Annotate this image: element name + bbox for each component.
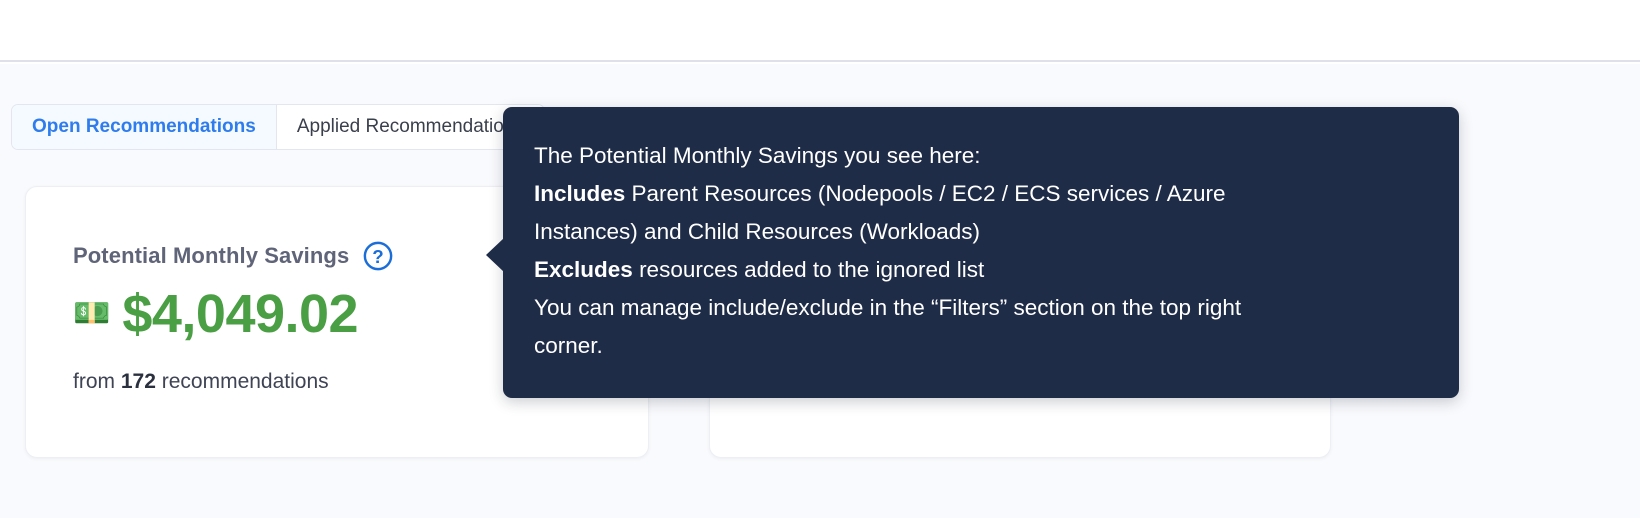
tooltip-line-4: Excludes resources added to the ignored … — [534, 251, 1425, 289]
svg-text:?: ? — [373, 246, 384, 267]
tooltip-line-6: corner. — [534, 327, 1425, 365]
savings-info-tooltip: The Potential Monthly Savings you see he… — [503, 107, 1459, 398]
tooltip-includes-text: Parent Resources (Nodepools / EC2 / ECS … — [625, 181, 1225, 206]
tab-open-recommendations[interactable]: Open Recommendations — [12, 105, 276, 149]
recommendations-tab-bar: Open Recommendations Applied Recommendat… — [11, 104, 545, 150]
tooltip-excludes-text: resources added to the ignored list — [633, 257, 984, 282]
tooltip-excludes-label: Excludes — [534, 257, 633, 282]
count-prefix: from — [73, 370, 121, 393]
count-value: 172 — [121, 370, 156, 393]
tooltip-line-1: The Potential Monthly Savings you see he… — [534, 137, 1425, 175]
tooltip-arrow — [486, 238, 504, 272]
top-header-band — [0, 0, 1640, 62]
question-mark-circle-icon[interactable]: ? — [363, 241, 393, 271]
tooltip-includes-label: Includes — [534, 181, 625, 206]
tooltip-line-3: Instances) and Child Resources (Workload… — [534, 213, 1425, 251]
card-title-row: Potential Monthly Savings ? — [73, 241, 393, 271]
tooltip-line-5: You can manage include/exclude in the “F… — [534, 289, 1425, 327]
savings-amount-value: $4,049.02 — [122, 287, 358, 341]
count-suffix: recommendations — [156, 370, 329, 393]
card-title: Potential Monthly Savings — [73, 243, 349, 269]
savings-amount-row: 💵 $4,049.02 — [73, 287, 358, 341]
money-banknotes-emoji: 💵 — [73, 299, 110, 329]
tooltip-line-2: Includes Parent Resources (Nodepools / E… — [534, 175, 1425, 213]
recommendations-count-line: from 172 recommendations — [73, 370, 329, 394]
